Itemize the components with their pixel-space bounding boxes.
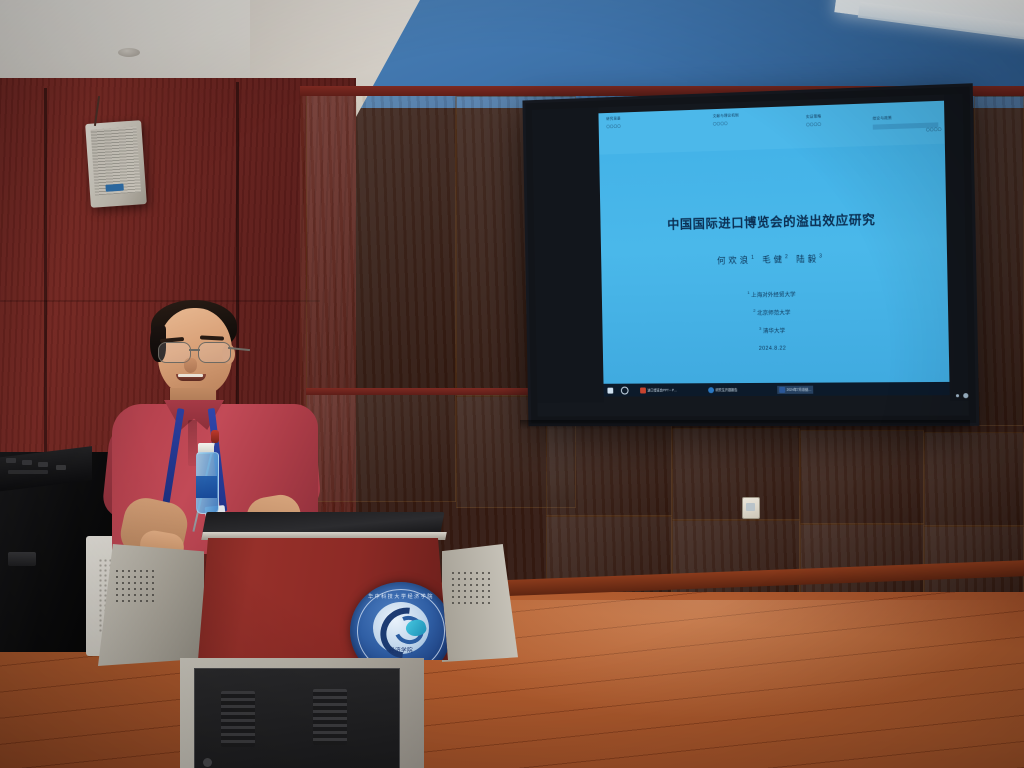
ribbon-tab-4[interactable]: 结论与政策 [873, 116, 892, 122]
wood-panel [800, 524, 924, 602]
edge-icon [708, 387, 714, 393]
conference-room-photo: 研究背景 〇〇〇〇 文献与理论机制 〇〇〇〇 实证策略 〇〇〇〇 结论与政策 〇… [0, 0, 1024, 768]
search-glyph-icon [621, 386, 629, 394]
taskbar-item-edge[interactable]: 研究生开题报告 [708, 386, 737, 394]
emblem-script-cn: 经济学院 [350, 646, 452, 654]
tv-screen[interactable]: 研究背景 〇〇〇〇 文献与理论机制 〇〇〇〇 实证策略 〇〇〇〇 结论与政策 〇… [532, 94, 969, 416]
console-button[interactable] [6, 458, 16, 463]
author-3: 陆毅 [796, 254, 819, 265]
ribbon-tab-2[interactable]: 文献与理论机制 [713, 113, 739, 119]
slide-date: 2024.8.22 [603, 344, 949, 353]
zoom-slider-handle-icon[interactable] [963, 393, 968, 398]
wood-panel [546, 424, 672, 516]
glasses-lens-right [198, 342, 231, 363]
slide-affiliation-1: 1 上海对外经贸大学 [602, 287, 948, 301]
smoke-detector-icon [118, 48, 140, 57]
start-glyph-icon [607, 387, 613, 393]
nose [184, 358, 197, 373]
author-2-sup: 2 [785, 254, 791, 260]
taskbar-item-powerpoint[interactable]: 进口博览会PPT－P… [640, 386, 677, 394]
taskbar-label-powerpoint: 进口博览会PPT－P… [647, 387, 677, 392]
zoom-out-icon[interactable] [956, 394, 959, 397]
slide-title: 中国国际进口博览会的溢出效应研究 [600, 207, 946, 234]
affil-1-name: 上海对外经贸大学 [751, 292, 796, 299]
powerpoint-icon [640, 387, 646, 393]
console-fader[interactable] [8, 470, 48, 474]
vent-louver-right [313, 689, 347, 745]
rack-panel-label [8, 552, 36, 566]
affil-1-sup: 1 [747, 290, 749, 295]
lectern-speaker-grille-left [114, 568, 154, 606]
glasses-icon [156, 342, 236, 362]
author-1-sup: 1 [751, 255, 757, 261]
author-2: 毛健 [762, 254, 785, 264]
speaker-brand-badge [105, 184, 123, 192]
ribbon-marks-1: 〇〇〇〇 [606, 124, 621, 130]
author-3-sup: 3 [819, 254, 825, 260]
affil-2-name: 北京师范大学 [757, 310, 790, 316]
slide-authors: 何欢浪1 毛健2 陆毅3 [601, 250, 947, 269]
glasses-temple [228, 347, 250, 351]
wood-panel [306, 392, 456, 502]
wall-speaker [85, 120, 147, 208]
affil-3-name: 清华大学 [763, 328, 785, 334]
wood-panel [924, 432, 1024, 526]
slide-canvas[interactable]: 中国国际进口博览会的溢出效应研究 何欢浪1 毛健2 陆毅3 1 上海对外经贸大学… [599, 144, 950, 397]
lectern-front-panel: 华中科技大学经济学院 经济学院 SCHOOL OF ECONOMICS HUST [198, 538, 448, 660]
search-icon[interactable] [621, 386, 629, 394]
screen-letterbox-left [532, 107, 604, 402]
affil-3-sup: 3 [759, 326, 761, 331]
ribbon-tab-1[interactable]: 研究背景 [606, 116, 621, 122]
door-lock-icon[interactable] [203, 758, 212, 767]
glasses-bridge [189, 349, 200, 351]
wall-power-outlet[interactable] [742, 497, 760, 519]
wood-panel [974, 96, 1024, 426]
powerpoint-window[interactable]: 研究背景 〇〇〇〇 文献与理论机制 〇〇〇〇 实证策略 〇〇〇〇 结论与政策 〇… [598, 101, 949, 397]
affil-2-sup: 2 [753, 308, 755, 313]
wall-mounted-tv[interactable]: 研究背景 〇〇〇〇 文献与理论机制 〇〇〇〇 实证策略 〇〇〇〇 结论与政策 〇… [522, 83, 979, 426]
ribbon-corner-mark: 〇〇〇〇 [926, 127, 942, 133]
slide-affiliation-2: 2 北京师范大学 [602, 305, 948, 319]
ribbon-tab-3[interactable]: 实证策略 [806, 114, 821, 120]
powerpoint-status-bar[interactable]: 100% [954, 391, 969, 401]
microphone-icon [211, 430, 219, 443]
lectern-speaker-grille-right [450, 570, 490, 608]
slide-affiliation-3: 3 清华大学 [602, 324, 948, 337]
bottle-label [196, 476, 217, 498]
wood-panel [672, 428, 800, 520]
lectern-equipment-door[interactable] [194, 668, 400, 768]
taskbar-label-edge: 研究生开题报告 [715, 387, 737, 392]
emblem-text-cn: 华中科技大学经济学院 [350, 593, 452, 600]
word-icon [779, 386, 785, 392]
vent-louver-left [221, 691, 255, 747]
console-button[interactable] [38, 462, 48, 467]
wood-panel [800, 430, 924, 524]
tv-shadow [520, 420, 970, 430]
author-1: 何欢浪 [717, 255, 751, 266]
windows-taskbar[interactable]: 进口博览会PPT－P… 研究生开题报告 2024年7月总结… [604, 382, 950, 397]
taskbar-item-word[interactable]: 2024年7月总结… [777, 385, 813, 393]
ribbon-marks-2: 〇〇〇〇 [713, 122, 728, 128]
console-button[interactable] [22, 460, 32, 465]
teeth [178, 374, 203, 377]
taskbar-label-word: 2024年7月总结… [787, 387, 812, 392]
windows-start-icon[interactable] [607, 386, 613, 394]
console-button[interactable] [56, 465, 66, 470]
wood-panel [306, 92, 456, 392]
lectern: 华中科技大学经济学院 经济学院 SCHOOL OF ECONOMICS HUST [92, 508, 474, 768]
ribbon-marks-3: 〇〇〇〇 [806, 122, 821, 128]
